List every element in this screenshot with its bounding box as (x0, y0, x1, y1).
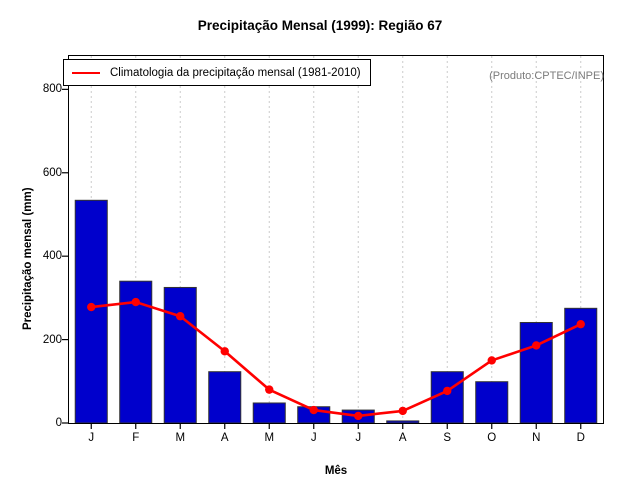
bar-o-9 (476, 382, 508, 423)
climatology-marker-11 (577, 320, 585, 328)
x-tick-label-11: D (561, 432, 601, 444)
x-axis-label: Mês (68, 465, 604, 477)
y-tick-label-600: 600 (16, 167, 62, 179)
climatology-markers-group (87, 298, 585, 420)
x-tick-label-8: S (427, 432, 467, 444)
climatology-marker-0 (87, 303, 95, 311)
x-tick-label-5: J (294, 432, 334, 444)
y-tick-label-800: 800 (16, 83, 62, 95)
x-tick-label-0: J (71, 432, 111, 444)
legend-label-climatology: Climatologia da precipitação mensal (198… (110, 67, 361, 79)
x-tick-label-7: A (383, 432, 423, 444)
bar-m-2 (164, 287, 196, 423)
y-tick-label-400: 400 (16, 250, 62, 262)
legend: Climatologia da precipitação mensal (198… (63, 59, 371, 86)
y-tick-label-200: 200 (16, 334, 62, 346)
x-tick-label-10: N (516, 432, 556, 444)
climatology-marker-4 (265, 385, 273, 393)
bar-j-0 (75, 200, 107, 423)
bar-n-10 (520, 322, 552, 423)
climatology-marker-8 (443, 387, 451, 395)
x-tick-label-3: A (205, 432, 245, 444)
y-axis-tick-labels: 0200400600800 (10, 0, 62, 500)
x-tick-label-6: J (338, 432, 378, 444)
source-annotation: (Produto:CPTEC/INPE) (489, 70, 604, 82)
climatology-marker-3 (221, 347, 229, 355)
x-tick-label-4: M (249, 432, 289, 444)
climatology-marker-1 (132, 298, 140, 306)
legend-line-swatch (72, 72, 100, 74)
precipitation-chart: Precipitação Mensal (1999): Região 67 Pr… (0, 0, 640, 500)
x-tick-label-9: O (472, 432, 512, 444)
climatology-marker-10 (532, 341, 540, 349)
y-tick-label-0: 0 (16, 417, 62, 429)
bar-a-3 (209, 372, 241, 423)
climatology-marker-5 (310, 406, 318, 414)
x-tick-label-2: M (160, 432, 200, 444)
climatology-marker-6 (354, 412, 362, 420)
climatology-marker-2 (176, 312, 184, 320)
plot-svg (69, 56, 603, 423)
climatology-marker-7 (399, 407, 407, 415)
bar-a-7 (387, 421, 419, 423)
bar-m-4 (253, 403, 285, 423)
plot-area (68, 55, 604, 424)
chart-title: Precipitação Mensal (1999): Região 67 (0, 18, 640, 33)
bars-group (75, 200, 597, 423)
x-tick-label-1: F (116, 432, 156, 444)
climatology-marker-9 (488, 356, 496, 364)
